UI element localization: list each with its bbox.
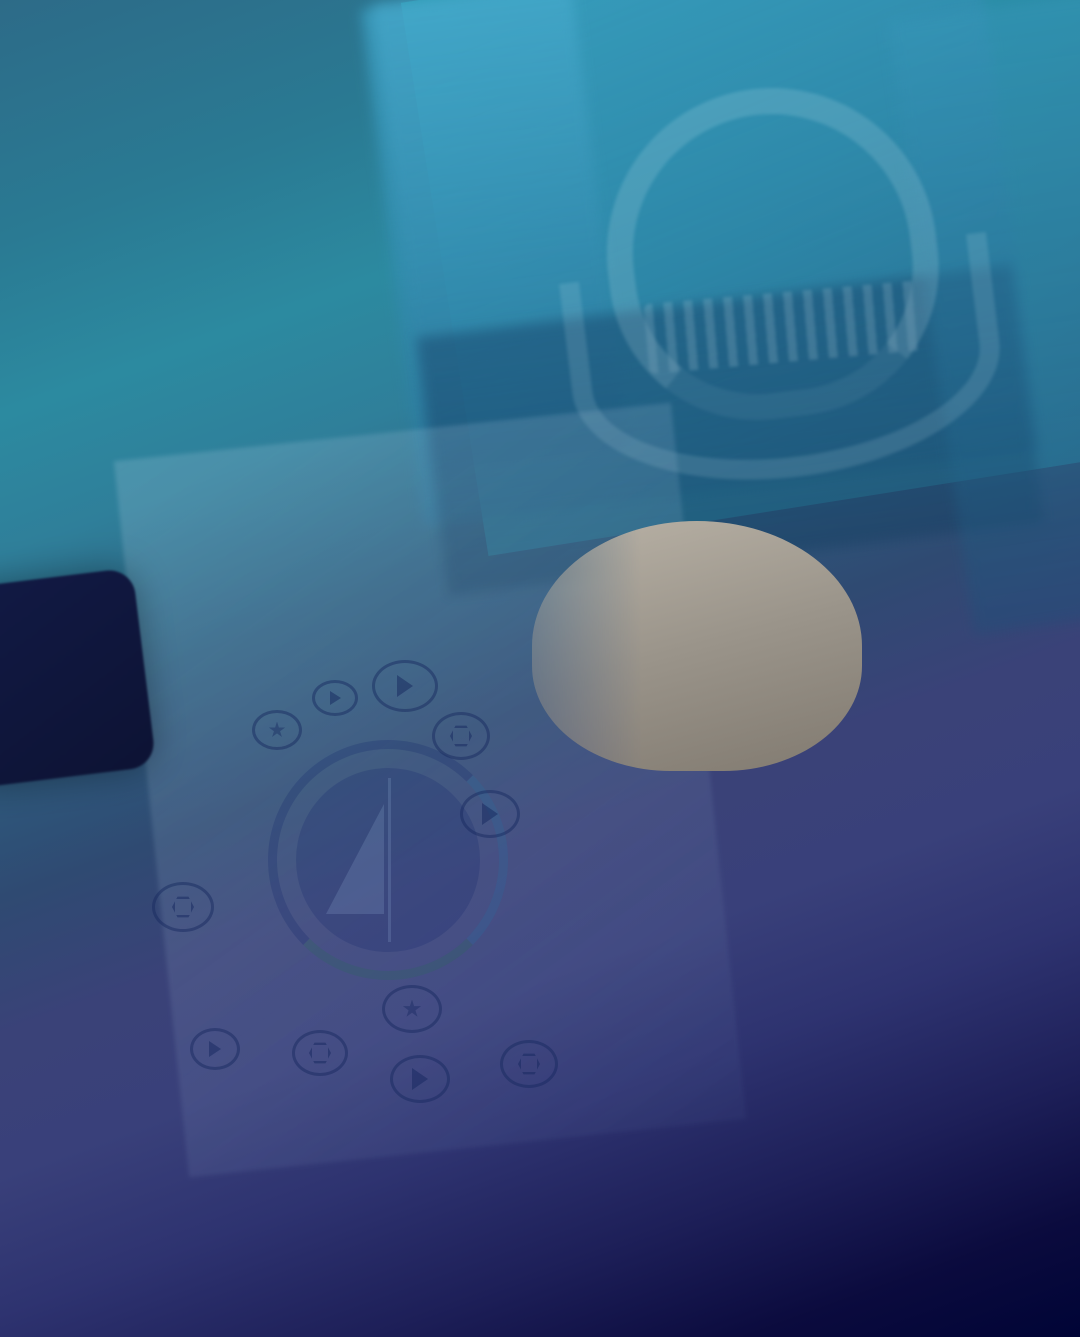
- background-tablet-device: [0, 567, 156, 788]
- watermark-play-icon-3: [190, 1028, 240, 1070]
- watermark-play-icon: [372, 660, 438, 712]
- promo-poster: 3-Day Live-Patient Course 27 CE Live-Pat…: [0, 0, 1080, 1337]
- watermark-star-icon-2: [382, 985, 442, 1033]
- portrait-face: [544, 567, 844, 947]
- watermark-star-icon: [252, 710, 302, 750]
- speaker-portrait-photo: [470, 515, 1080, 1215]
- watermark-play-icon-small: [312, 680, 358, 716]
- watermark-play-icon-4: [390, 1055, 450, 1103]
- watermark-logo-core: [296, 768, 480, 952]
- watermark-hexagon-icon-2: [152, 882, 214, 932]
- watermark-hexagon-icon-3: [292, 1030, 348, 1076]
